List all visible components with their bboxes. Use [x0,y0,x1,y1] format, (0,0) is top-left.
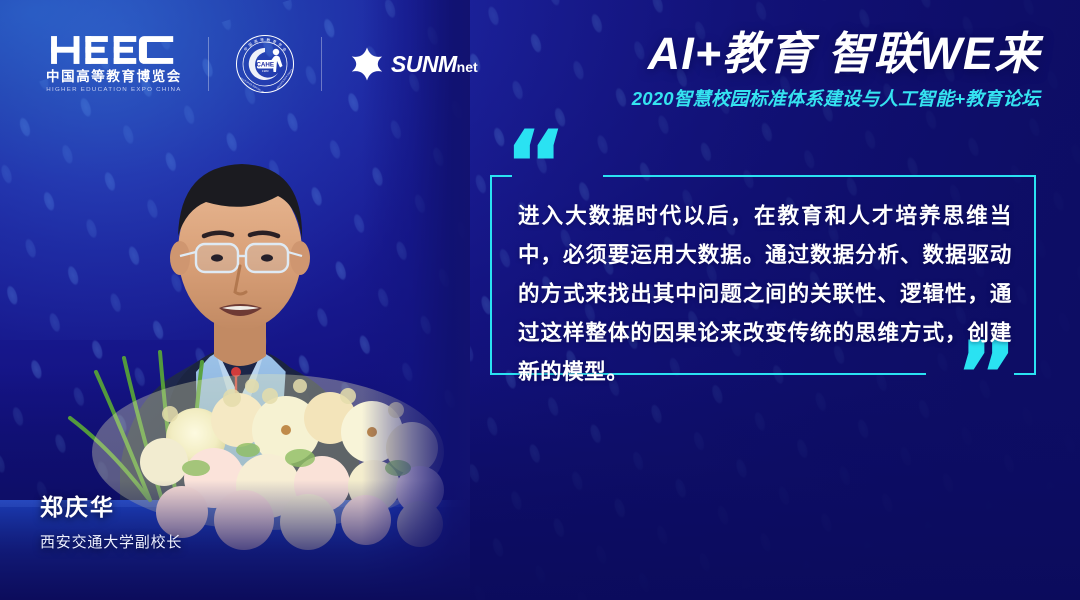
heec-wordmark-icon [50,35,179,65]
event-title: AI+教育 智联WE来 [632,30,1040,78]
title-block: AI+教育 智联WE来 2020智慧校园标准体系建设与人工智能+教育论坛 [632,30,1040,111]
quote-border-left [490,175,492,375]
quote-panel: “ ” 进入大数据时代以后，在教育和人才培养思维当中，必须要运用大数据。通过数据… [490,175,1036,375]
svg-text:教: 教 [266,37,271,43]
quote-text: 进入大数据时代以后，在教育和人才培养思维当中，必须要运用大数据。通过数据分析、数… [518,197,1012,392]
net-text: net [457,59,478,75]
svg-text:国: 国 [247,41,253,47]
quote-border-right [1034,175,1036,375]
logo-row: 中国高等教育博览会 HIGHER EDUCATION EXPO CHINA CA… [46,34,504,94]
svg-text:学: 学 [277,42,283,48]
heec-chinese-name: 中国高等教育博览会 [46,70,182,84]
speaker-title: 西安交通大学副校长 [40,531,182,552]
cahe-emblem-icon: CAHE 1983 中 国 高 等 教 育 学 会 CHINA ASSOCIAT… [235,34,295,94]
svg-text:等: 等 [260,37,265,42]
svg-text:会: 会 [281,46,287,52]
cahe-logo: CAHE 1983 中 国 高 等 教 育 学 会 CHINA ASSOCIAT… [209,34,321,94]
heec-logo: 中国高等教育博览会 HIGHER EDUCATION EXPO CHINA [46,35,208,94]
svg-text:CHINA ASSOCIATION: CHINA ASSOCIATION [275,68,293,90]
svg-text:CAHE: CAHE [256,62,274,69]
banner-stage: 中国高等教育博览会 HIGHER EDUCATION EXPO CHINA CA… [0,0,1080,600]
speaker-name: 郑庆华 [40,488,182,522]
svg-text:中: 中 [242,46,248,52]
speaker-caption: 郑庆华 西安交通大学副校长 [40,488,182,552]
sunmnet-star-icon [348,45,386,83]
heec-english-name: HIGHER EDUCATION EXPO CHINA [46,87,181,93]
event-subtitle: 2020智慧校园标准体系建设与人工智能+教育论坛 [632,85,1040,111]
quote-border-top-right [603,175,1036,177]
svg-text:1983: 1983 [262,69,269,73]
sunmnet-logo: SUNMnet [322,45,504,83]
sunm-text: SUNM [391,51,457,77]
sunmnet-wordmark: SUNMnet [391,53,478,76]
